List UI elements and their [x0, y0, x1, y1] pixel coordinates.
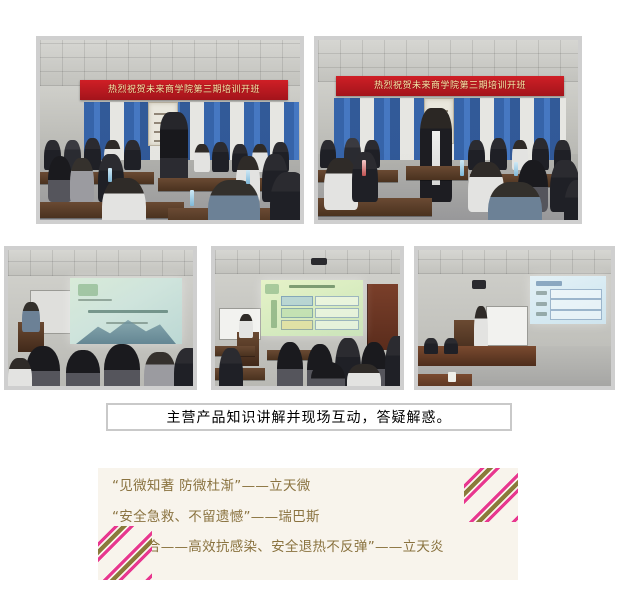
banner-text: 热烈祝贺未来商学院第三期培训开班 [336, 76, 564, 96]
photo-image: 热烈祝贺未来商学院第三期培训开班 [40, 40, 300, 220]
photo-training-class-opening-wide: 热烈祝贺未来商学院第三期培训开班 [36, 36, 304, 224]
photo-image: 热烈祝贺未来商学院第三期培训开班 [318, 40, 578, 220]
caption-box: 主营产品知识讲解并现场互动，答疑解惑。 [106, 403, 512, 431]
caption-text: 主营产品知识讲解并现场互动，答疑解惑。 [167, 407, 452, 427]
projection-screen [261, 280, 363, 336]
photo-image [215, 250, 400, 386]
projection-screen [70, 278, 182, 344]
projection-screen [530, 276, 606, 324]
photo-image [8, 250, 193, 386]
photo-lecture-mountain-slide [4, 246, 197, 390]
photo-image [418, 250, 611, 386]
slogan-quote-block: “见微知著 防微杜渐”——立天微 “安全急救、不留遗憾”——瑞巴斯 “三抗合——… [98, 468, 518, 580]
photo-training-class-opening-angle: 热烈祝贺未来商学院第三期培训开班 [314, 36, 582, 224]
photo-lecture-whiteboard-blue-slide [414, 246, 615, 390]
banner-text: 热烈祝贺未来商学院第三期培训开班 [80, 80, 288, 100]
slogan-line-3: “三抗合——高效抗感染、安全退热不反弹”——立天炎 [112, 541, 504, 555]
slogan-line-2: “安全急救、不留遗憾”——瑞巴斯 [112, 511, 504, 525]
photo-lecture-classroom-green-slide [211, 246, 404, 390]
slogan-line-1: “见微知著 防微杜渐”——立天微 [112, 480, 504, 494]
